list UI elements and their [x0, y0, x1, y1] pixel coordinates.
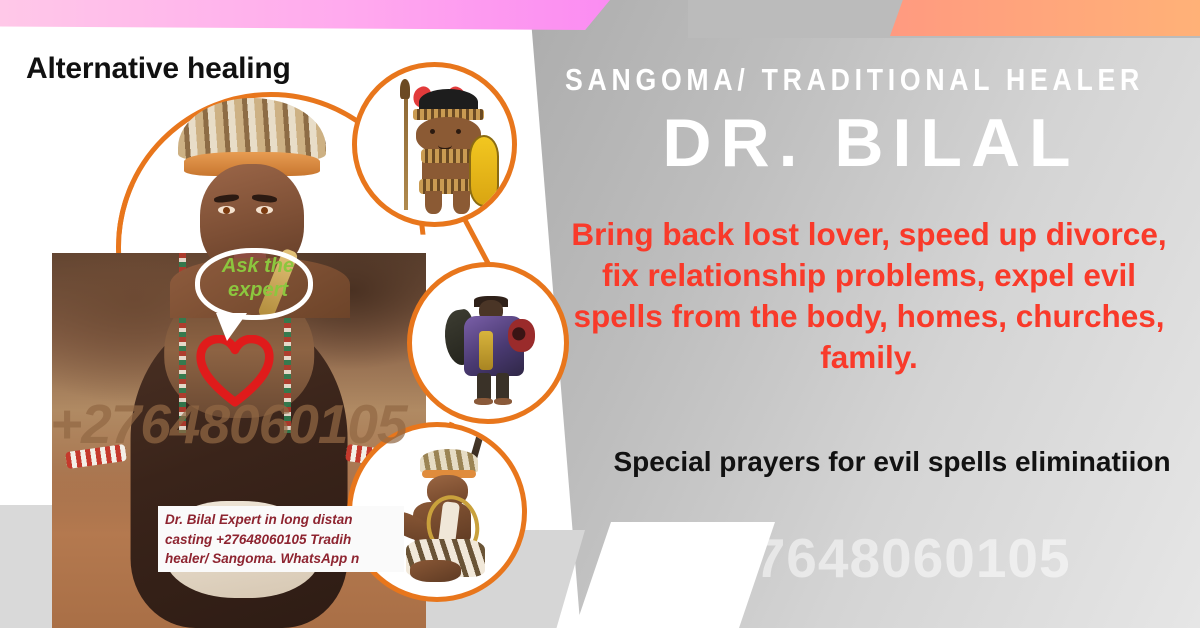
- top-orange-banner: [890, 0, 1200, 36]
- top-pink-banner: [0, 0, 610, 30]
- bottom-left-gray-block: [0, 505, 53, 628]
- subtitle-kicker: SANGOMA/ TRADITIONAL HEALER: [565, 62, 1090, 98]
- right-phone-watermark: +27648060105: [690, 526, 1071, 590]
- special-prayers-text: Special prayers for evil spells eliminat…: [600, 444, 1184, 481]
- caption-line-2: casting +27648060105 Tradih: [165, 530, 397, 550]
- brand-name: DR. BILAL: [565, 104, 1177, 182]
- photo-phone-watermark: +27648060105: [50, 392, 407, 456]
- circle-thumbnail-cloaked-healer: [407, 262, 569, 424]
- caption-line-3: healer/ Sangoma. WhatsApp n: [165, 549, 397, 569]
- speech-bubble-label: Ask the expert: [210, 255, 306, 302]
- caption-line-1: Dr. Bilal Expert in long distan: [165, 510, 397, 530]
- circle-thumbnail-zulu-warrior: [352, 62, 517, 227]
- poster-canvas: Alternative healing +27648060105 Ask the…: [0, 0, 1200, 628]
- services-description: Bring back lost lover, speed up divorce,…: [556, 214, 1182, 378]
- photo-caption-box: Dr. Bilal Expert in long distan casting …: [158, 506, 404, 572]
- page-title: Alternative healing: [26, 52, 291, 86]
